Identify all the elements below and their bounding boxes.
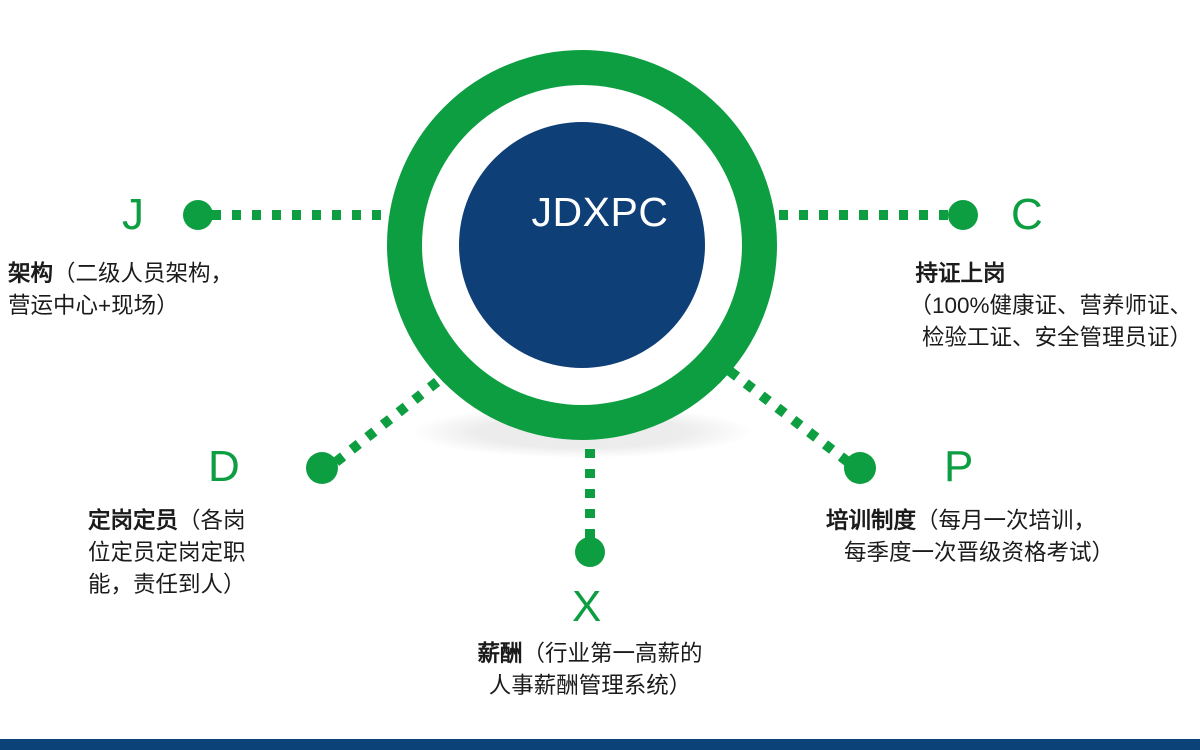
connector-d: [336, 370, 452, 462]
branch-letter-d: D: [208, 445, 240, 489]
branch-line-d-1: 位定员定岗定职: [88, 537, 246, 569]
branch-letter-j: J: [122, 193, 144, 237]
branch-lead-j: 架构: [8, 261, 53, 286]
node-dot-d[interactable]: [306, 452, 338, 484]
center-core-circle: [459, 122, 705, 368]
node-dot-p[interactable]: [844, 452, 876, 484]
branch-line-x-0: （行业第一高薪的: [523, 641, 703, 666]
branch-line-c-1: 检验工证、安全管理员证）: [909, 322, 1192, 354]
connector-p: [718, 362, 848, 462]
branch-letter-x: X: [572, 585, 601, 629]
node-dot-x[interactable]: [575, 537, 605, 567]
branch-line-c-0: （100%健康证、营养师证、: [909, 290, 1192, 322]
branch-line-p-1: 每季度一次晋级资格考试）: [826, 537, 1114, 569]
bottom-accent-bar: [0, 739, 1200, 750]
branch-lead-d: 定岗定员: [88, 508, 178, 533]
branch-line-d-2: 能，责任到人）: [88, 569, 246, 601]
branch-letter-c: C: [1011, 193, 1043, 237]
branch-text-x: 薪酬（行业第一高薪的 人事薪酬管理系统）: [390, 638, 790, 702]
node-dot-c[interactable]: [948, 200, 978, 230]
branch-line-j-0: （二级人员架构，: [53, 261, 233, 286]
center-label: JDXPC: [460, 192, 740, 233]
branch-text-c: 持证上岗 （100%健康证、营养师证、 检验工证、安全管理员证）: [909, 258, 1192, 354]
branch-text-j: 架构（二级人员架构， 营运中心+现场）: [8, 258, 233, 322]
branch-lead-c: 持证上岗: [915, 261, 1005, 286]
branch-line-x-1: 人事薪酬管理系统）: [390, 670, 790, 702]
branch-lead-x: 薪酬: [477, 641, 522, 666]
node-dot-j[interactable]: [183, 200, 213, 230]
branch-line-p-0: （每月一次培训，: [916, 508, 1096, 533]
branch-lead-p: 培训制度: [826, 508, 916, 533]
branch-letter-p: P: [944, 445, 973, 489]
branch-text-p: 培训制度（每月一次培训， 每季度一次晋级资格考试）: [826, 505, 1114, 569]
branch-line-d-0: （各岗: [178, 508, 246, 533]
branch-text-d: 定岗定员（各岗 位定员定岗定职 能，责任到人）: [88, 505, 246, 601]
branch-line-j-1: 营运中心+现场）: [8, 290, 233, 322]
diagram-canvas: JDXPC J 架构（二级人员架构， 营运中心+现场） C 持证上岗 （100%…: [0, 0, 1200, 750]
